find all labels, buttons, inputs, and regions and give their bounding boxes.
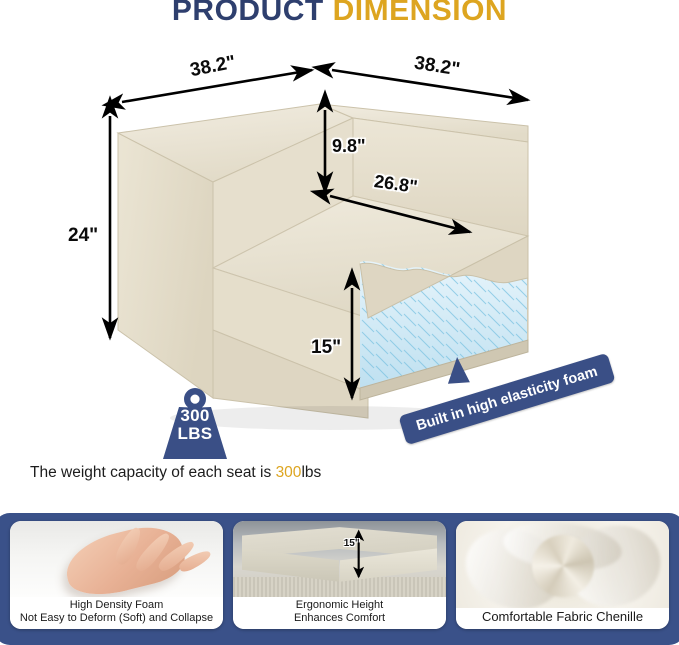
product-illustration: 38.2" 38.2" 9.8" 26.8" 24" 15" bbox=[0, 0, 679, 505]
weight-caption-prefix: The weight capacity of each seat is bbox=[30, 464, 276, 481]
feature-panel-caption: Comfortable Fabric Chenille bbox=[456, 608, 669, 629]
feature-panels: High Density Foam Not Easy to Deform (So… bbox=[0, 513, 679, 639]
sofa-diagram bbox=[0, 0, 679, 505]
fabric-swirl bbox=[532, 535, 594, 597]
dimension-label-height: 24" bbox=[68, 225, 98, 247]
feature-panel-high-density-foam: High Density Foam Not Easy to Deform (So… bbox=[10, 521, 223, 629]
caption-line-1: High Density Foam bbox=[13, 599, 220, 612]
panel-dimension-label: 15" bbox=[344, 538, 360, 549]
caption-line-2: Enhances Comfort bbox=[236, 612, 443, 625]
feature-panel-fabric-chenille: Comfortable Fabric Chenille bbox=[456, 521, 669, 629]
weight-unit: LBS bbox=[155, 425, 235, 443]
caption-line-2: Not Easy to Deform (Soft) and Collapse bbox=[13, 612, 220, 625]
foam-callout-pointer bbox=[446, 356, 470, 383]
fabric-image bbox=[456, 521, 669, 608]
cushion-height-image: 15" bbox=[233, 521, 446, 597]
feature-panel-caption: Ergonomic Height Enhances Comfort bbox=[233, 597, 446, 629]
weight-value: 300 bbox=[155, 407, 235, 425]
dimension-label-backrest: 9.8" bbox=[332, 136, 366, 157]
dimension-label-seat-height: 15" bbox=[311, 337, 341, 359]
weight-caption-value: 300 bbox=[276, 464, 302, 481]
feature-panel-ergonomic-height: 15" Ergonomic Height Enhances Comfort bbox=[233, 521, 446, 629]
weight-caption-suffix: lbs bbox=[301, 464, 321, 481]
caption-line-1: Comfortable Fabric Chenille bbox=[459, 610, 666, 623]
weight-capacity-caption: The weight capacity of each seat is 300l… bbox=[30, 464, 321, 482]
panel-dimension-arrow bbox=[233, 521, 446, 597]
weight-capacity-badge: 300 LBS bbox=[155, 385, 235, 463]
caption-line-1: Ergonomic Height bbox=[236, 599, 443, 612]
foam-hand-image bbox=[10, 521, 223, 597]
feature-panel-caption: High Density Foam Not Easy to Deform (So… bbox=[10, 597, 223, 629]
weight-badge-text: 300 LBS bbox=[155, 407, 235, 443]
